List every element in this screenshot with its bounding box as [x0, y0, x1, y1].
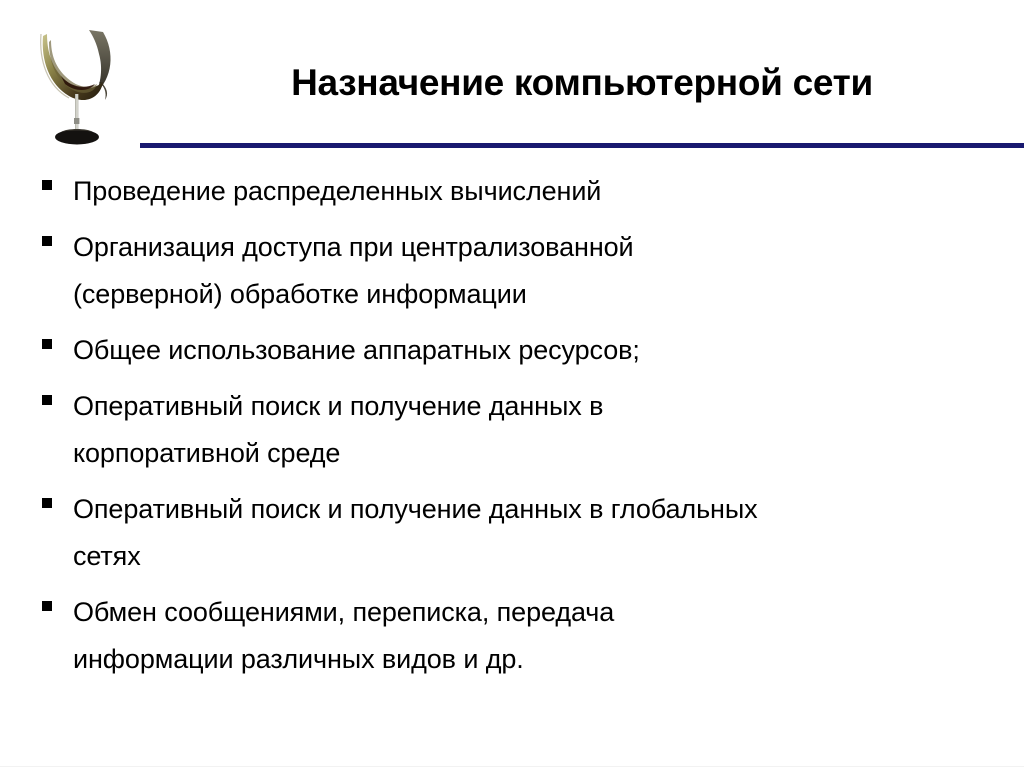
list-item-text: Общее использование аппаратных ресурсов;	[73, 327, 992, 374]
list-item: Оперативный поиск и получение данных в к…	[42, 383, 992, 477]
list-item: Проведение распределенных вычислений	[42, 168, 992, 215]
square-bullet-icon	[42, 180, 52, 190]
list-item-line: (серверной) обработке информации	[73, 271, 992, 318]
page-title: Назначение компьютерной сети	[291, 63, 873, 104]
list-item-line: Организация доступа при централизованной	[73, 232, 634, 262]
list-item-line: Оперативный поиск и получение данных в г…	[73, 494, 758, 524]
bullet-list: Проведение распределенных вычислений Орг…	[42, 168, 992, 692]
list-item-text: Проведение распределенных вычислений	[73, 168, 992, 215]
list-item-text: Оперативный поиск и получение данных в г…	[73, 486, 992, 580]
wine-goblet-image	[31, 26, 123, 148]
list-item-line: корпоративной среде	[73, 430, 992, 477]
list-item-line: Обмен сообщениями, переписка, передача	[73, 597, 614, 627]
list-item: Организация доступа при централизованной…	[42, 224, 992, 318]
list-item-line: сетях	[73, 533, 992, 580]
list-item-text: Обмен сообщениями, переписка, передача и…	[73, 589, 992, 683]
list-item: Обмен сообщениями, переписка, передача и…	[42, 589, 992, 683]
square-bullet-icon	[42, 498, 52, 508]
list-item: Оперативный поиск и получение данных в г…	[42, 486, 992, 580]
list-item-text: Оперативный поиск и получение данных в к…	[73, 383, 992, 477]
title-divider	[140, 143, 1024, 148]
title-container: Назначение компьютерной сети	[140, 46, 1024, 120]
square-bullet-icon	[42, 395, 52, 405]
square-bullet-icon	[42, 601, 52, 611]
square-bullet-icon	[42, 236, 52, 246]
list-item-text: Организация доступа при централизованной…	[73, 224, 992, 318]
presentation-slide: Назначение компьютерной сети Проведение …	[0, 0, 1024, 767]
list-item: Общее использование аппаратных ресурсов;	[42, 327, 992, 374]
list-item-line: информации различных видов и др.	[73, 636, 992, 683]
square-bullet-icon	[42, 339, 52, 349]
list-item-line: Оперативный поиск и получение данных в	[73, 391, 603, 421]
